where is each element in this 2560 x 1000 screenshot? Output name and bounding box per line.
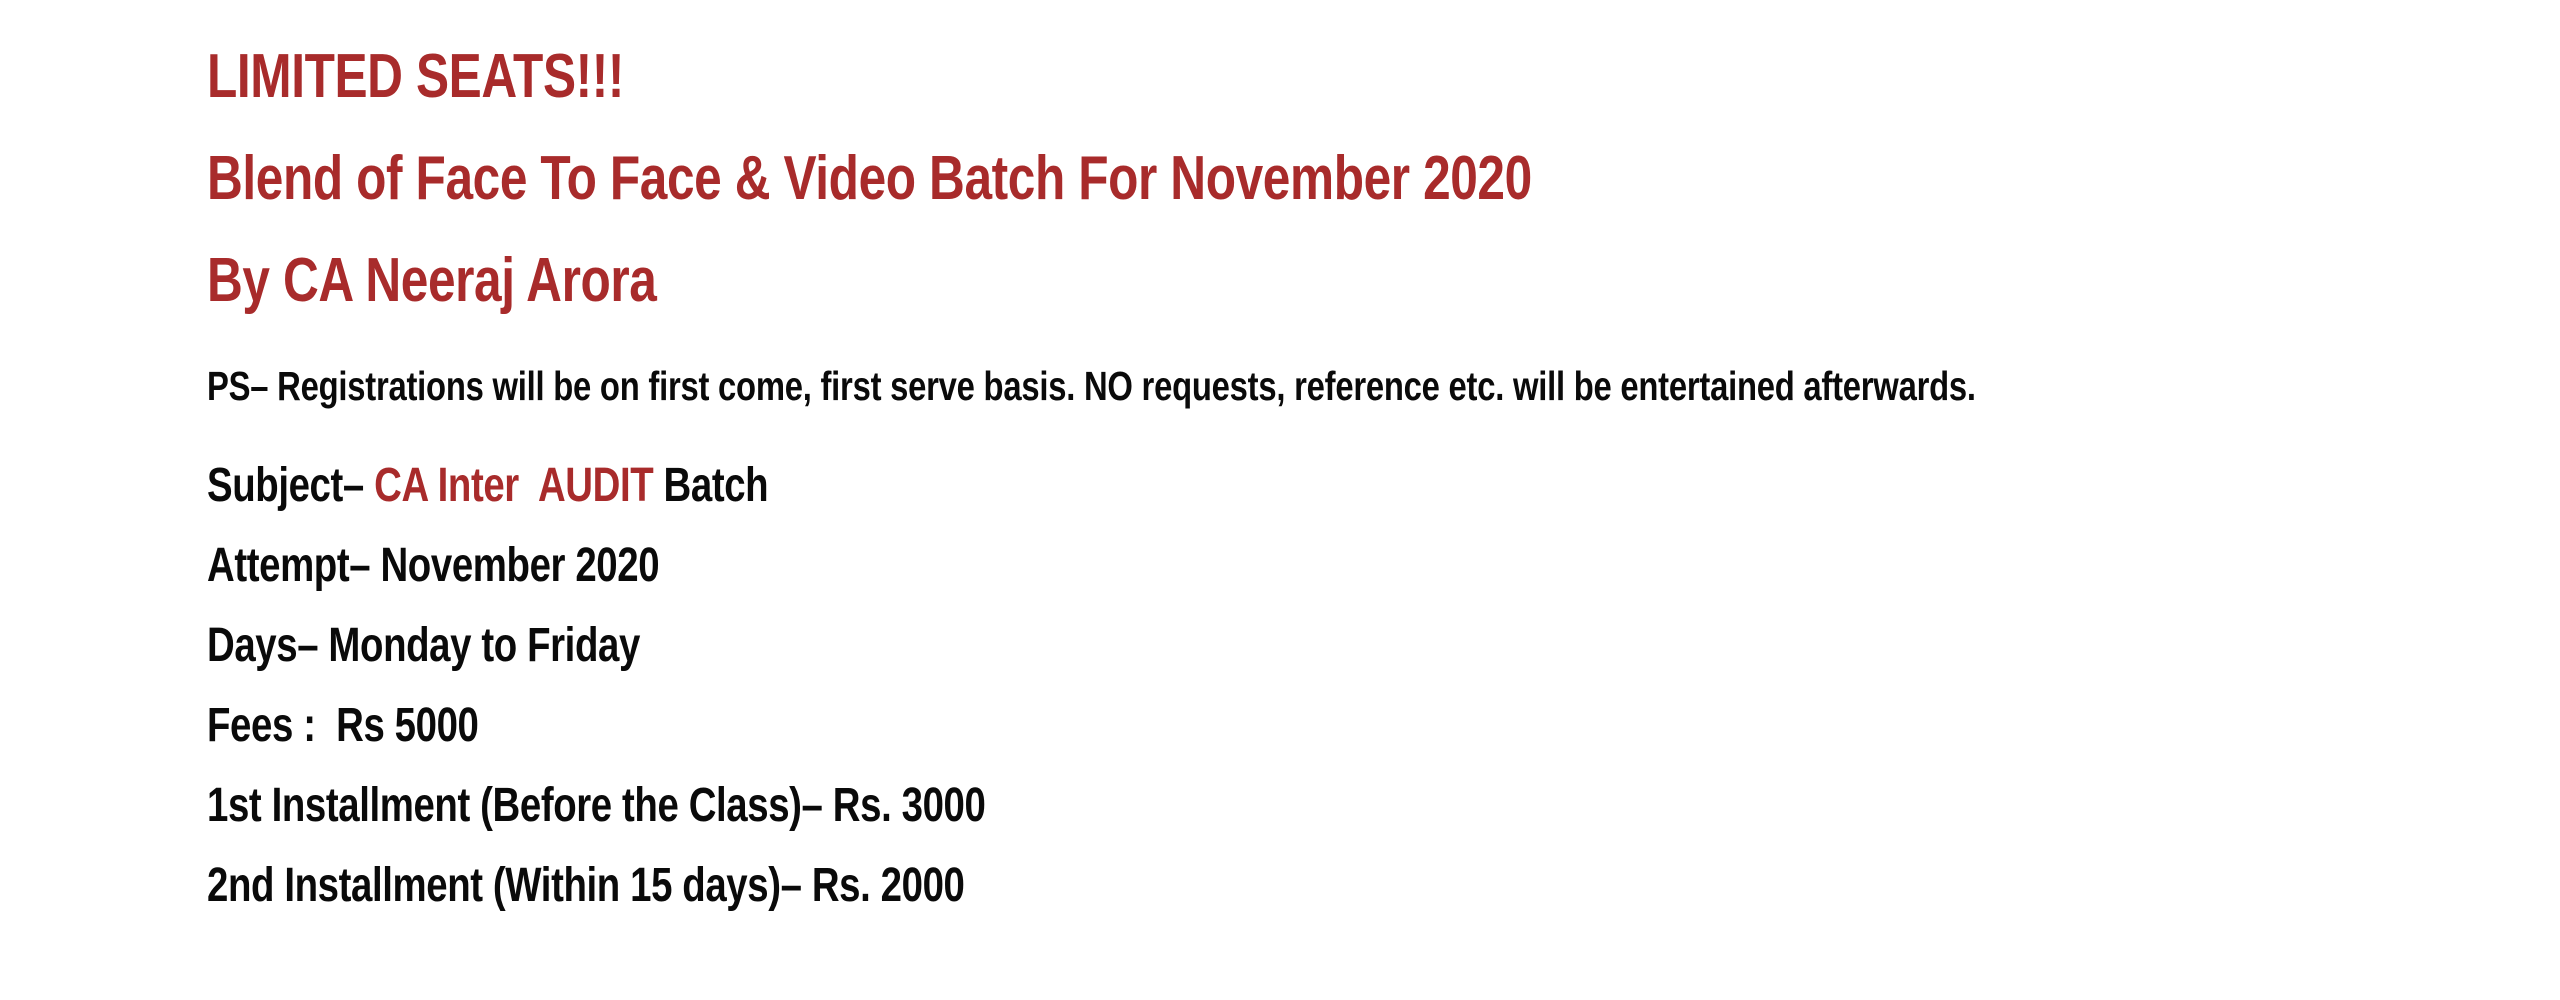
detail-fees: Fees : Rs 5000 bbox=[207, 686, 2047, 766]
detail-installment-2: 2nd Installment (Within 15 days)– Rs. 20… bbox=[207, 846, 2047, 926]
headline-instructor: By CA Neeraj Arora bbox=[207, 230, 2047, 332]
content-block: LIMITED SEATS!!! Blend of Face To Face &… bbox=[207, 26, 2507, 926]
detail-days: Days– Monday to Friday bbox=[207, 606, 2047, 686]
headline-limited-seats: LIMITED SEATS!!! bbox=[207, 26, 2047, 128]
announcement-poster: LIMITED SEATS!!! Blend of Face To Face &… bbox=[0, 0, 2560, 1000]
detail-subject: Subject– CA Inter AUDIT Batch bbox=[207, 446, 2047, 526]
headline-batch-title: Blend of Face To Face & Video Batch For … bbox=[207, 128, 2047, 230]
detail-subject-value-accent: CA Inter AUDIT bbox=[374, 459, 653, 512]
detail-attempt: Attempt– November 2020 bbox=[207, 526, 2047, 606]
detail-subject-value-suffix: Batch bbox=[653, 459, 768, 512]
detail-installment-1: 1st Installment (Before the Class)– Rs. … bbox=[207, 766, 2047, 846]
detail-subject-label: Subject– bbox=[207, 459, 374, 512]
details-list: Subject– CA Inter AUDIT Batch Attempt– N… bbox=[207, 446, 2507, 926]
ps-note: PS– Registrations will be on first come,… bbox=[207, 356, 2047, 416]
